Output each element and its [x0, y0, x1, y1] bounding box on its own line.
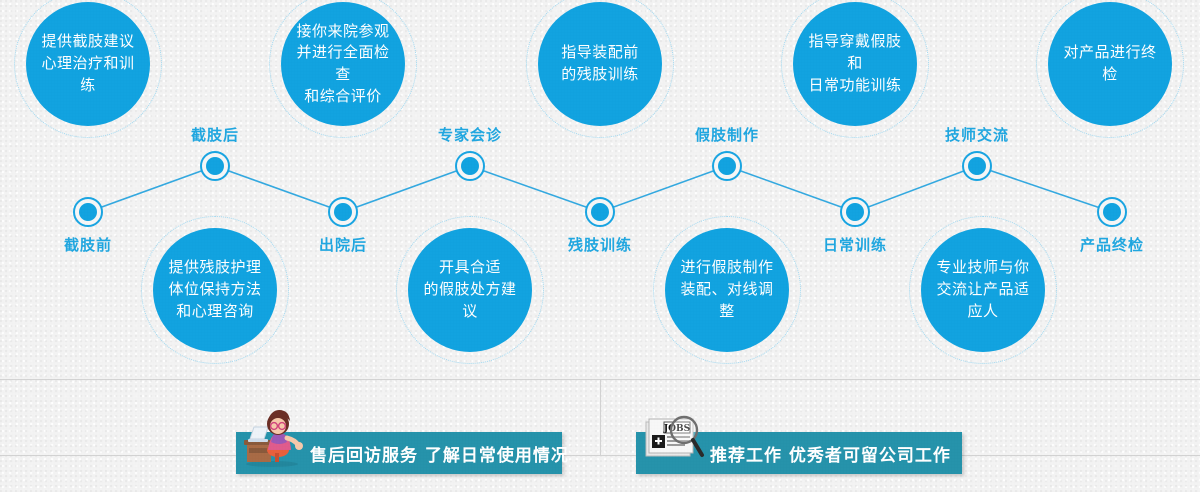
timeline-node[interactable]: [962, 151, 992, 181]
info-bubble[interactable]: 指导装配前的残肢训练: [538, 2, 662, 126]
info-bubble-text: 提供截肢建议心理治疗和训练: [26, 31, 150, 96]
info-bubble-line: 装配、对线调整: [673, 279, 781, 323]
timeline-node-label: 出院后: [283, 234, 403, 255]
info-bubble-line: 日常功能训练: [801, 75, 909, 97]
timeline-node-label: 截肢前: [28, 234, 148, 255]
info-bubble-text: 对产品进行终检: [1048, 42, 1172, 86]
timeline-node-label: 假肢制作: [667, 124, 787, 145]
timeline-node[interactable]: [840, 197, 870, 227]
info-bubble-text: 指导穿戴假肢和日常功能训练: [793, 31, 917, 96]
woman-at-desk-icon: [242, 406, 306, 468]
banner-title: 推荐工作 优秀者可留公司工作: [710, 441, 951, 466]
banner-job-referral[interactable]: JOBS推荐工作 优秀者可留公司工作: [636, 432, 962, 474]
timeline-node-label: 专家会诊: [410, 124, 530, 145]
timeline-node-label: 技师交流: [917, 124, 1037, 145]
info-bubble[interactable]: 进行假肢制作装配、对线调整: [665, 228, 789, 352]
info-bubble-line: 心理治疗和训练: [34, 53, 142, 97]
info-bubble-line: 体位保持方法: [168, 279, 261, 301]
timeline-node[interactable]: [1097, 197, 1127, 227]
info-bubble-line: 指导装配前: [561, 42, 639, 64]
info-bubble-text: 指导装配前的残肢训练: [553, 42, 647, 86]
info-bubble-line: 和心理咨询: [168, 301, 261, 323]
timeline-page: 提供截肢建议心理治疗和训练提供残肢护理体位保持方法和心理咨询接你来院参观并进行全…: [0, 0, 1200, 492]
info-bubble[interactable]: 对产品进行终检: [1048, 2, 1172, 126]
info-bubble-text: 提供残肢护理体位保持方法和心理咨询: [160, 257, 269, 322]
timeline-node-label: 残肢训练: [540, 234, 660, 255]
info-bubble-line: 提供截肢建议: [34, 31, 142, 53]
info-bubble-line: 交流让产品适应人: [929, 279, 1037, 323]
timeline-node-label: 日常训练: [795, 234, 915, 255]
info-bubble-line: 提供残肢护理: [168, 257, 261, 279]
info-bubble-line: 和综合评价: [289, 86, 397, 108]
info-bubble-line: 进行假肢制作: [673, 257, 781, 279]
timeline-node[interactable]: [200, 151, 230, 181]
timeline-node[interactable]: [585, 197, 615, 227]
section-divider-vertical: [600, 379, 601, 455]
info-bubble[interactable]: 指导穿戴假肢和日常功能训练: [793, 2, 917, 126]
info-bubble-line: 并进行全面检查: [289, 42, 397, 86]
section-divider-bottom: [0, 455, 1200, 456]
timeline-node[interactable]: [328, 197, 358, 227]
info-bubble-line: 的残肢训练: [561, 64, 639, 86]
timeline-node[interactable]: [455, 151, 485, 181]
info-bubble-line: 指导穿戴假肢和: [801, 31, 909, 75]
info-bubble-line: 开具合适: [416, 257, 524, 279]
info-bubble-line: 专业技师与你: [929, 257, 1037, 279]
timeline-node-label: 产品终检: [1052, 234, 1172, 255]
banner-title: 售后回访服务 了解日常使用情况: [310, 441, 569, 466]
info-bubble[interactable]: 开具合适的假肢处方建议: [408, 228, 532, 352]
info-bubble-line: 的假肢处方建议: [416, 279, 524, 323]
info-bubble[interactable]: 接你来院参观并进行全面检查和综合评价: [281, 2, 405, 126]
info-bubble[interactable]: 提供残肢护理体位保持方法和心理咨询: [153, 228, 277, 352]
timeline-node[interactable]: [712, 151, 742, 181]
info-bubble-line: 接你来院参观: [289, 21, 397, 43]
info-bubble[interactable]: 专业技师与你交流让产品适应人: [921, 228, 1045, 352]
info-bubble-line: 对产品进行终检: [1056, 42, 1164, 86]
info-bubble-text: 专业技师与你交流让产品适应人: [921, 257, 1045, 322]
timeline-node[interactable]: [73, 197, 103, 227]
jobs-newspaper-magnifier-icon: JOBS: [642, 406, 706, 468]
info-bubble-text: 开具合适的假肢处方建议: [408, 257, 532, 322]
info-bubble[interactable]: 提供截肢建议心理治疗和训练: [26, 2, 150, 126]
timeline-node-label: 截肢后: [155, 124, 275, 145]
banner-after-sales[interactable]: 售后回访服务 了解日常使用情况: [236, 432, 562, 474]
info-bubble-text: 接你来院参观并进行全面检查和综合评价: [281, 21, 405, 108]
info-bubble-text: 进行假肢制作装配、对线调整: [665, 257, 789, 322]
